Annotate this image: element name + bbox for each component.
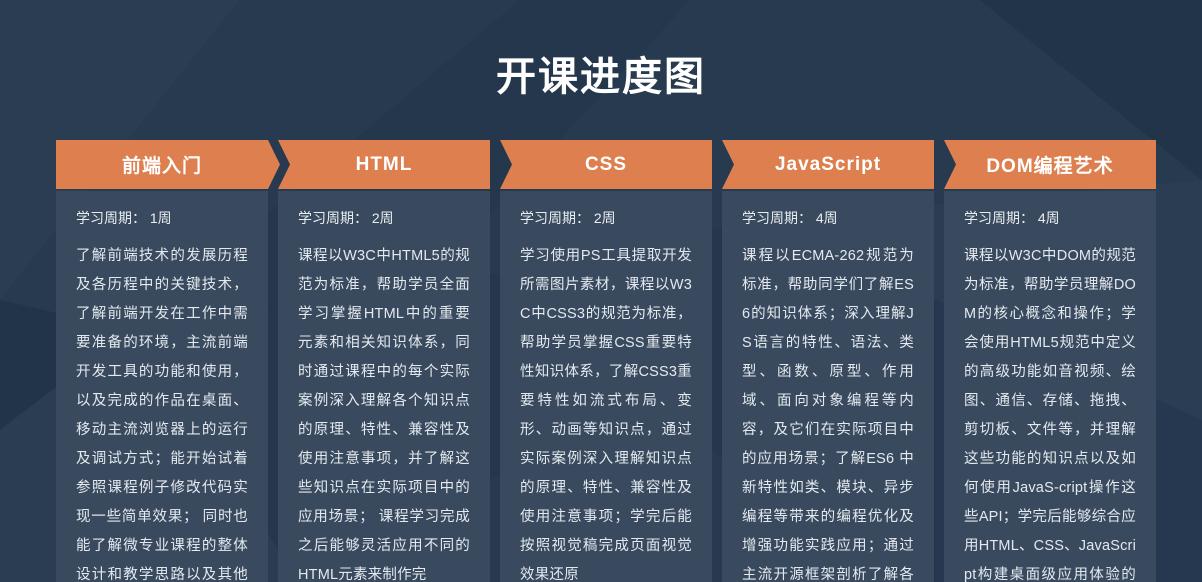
course-description: 了解前端技术的发展历程及各历程中的关键技术，了解前端开发在工作中需要准备的环境，… (76, 242, 248, 582)
course-description: 学习使用PS工具提取开发所需图片素材，课程以W3C中CSS3的规范为标准，帮助学… (520, 242, 692, 582)
course-title: 前端入门 (122, 151, 202, 178)
course-duration: 学习周期： 4周 (742, 209, 914, 227)
course-header-javascript[interactable]: JavaScript (722, 140, 934, 189)
course-description: 课程以W3C中DOM的规范为标准，帮助学员理解DOM的核心概念和操作；学会使用H… (964, 242, 1136, 582)
course-header-css[interactable]: CSS (500, 140, 712, 189)
course-columns-board: 前端入门 学习周期： 1周 了解前端技术的发展历程及各历程中的关键技术，了解前端… (56, 140, 1156, 582)
course-body-html: 学习周期： 2周 课程以W3C中HTML5的规范为标准，帮助学员全面学习掌握HT… (278, 191, 490, 582)
course-body-javascript: 学习周期： 4周 课程以ECMA-262规范为标准，帮助同学们了解ES6的知识体… (722, 191, 934, 582)
course-column-dom[interactable]: DOM编程艺术 学习周期： 4周 课程以W3C中DOM的规范为标准，帮助学员理解… (944, 140, 1156, 582)
course-header-front-end-intro[interactable]: 前端入门 (56, 140, 268, 189)
course-body-css: 学习周期： 2周 学习使用PS工具提取开发所需图片素材，课程以W3C中CSS3的… (500, 191, 712, 582)
course-column-html[interactable]: HTML 学习周期： 2周 课程以W3C中HTML5的规范为标准，帮助学员全面学… (278, 140, 490, 582)
course-header-dom[interactable]: DOM编程艺术 (944, 140, 1156, 189)
course-duration: 学习周期： 4周 (964, 209, 1136, 227)
course-column-css[interactable]: CSS 学习周期： 2周 学习使用PS工具提取开发所需图片素材，课程以W3C中C… (500, 140, 712, 582)
course-title: CSS (585, 154, 627, 176)
course-duration: 学习周期： 1周 (76, 209, 248, 227)
page-title: 开课进度图 (0, 52, 1202, 102)
course-body-dom: 学习周期： 4周 课程以W3C中DOM的规范为标准，帮助学员理解DOM的核心概念… (944, 191, 1156, 582)
course-body-front-end-intro: 学习周期： 1周 了解前端技术的发展历程及各历程中的关键技术，了解前端开发在工作… (56, 191, 268, 582)
course-title: HTML (356, 154, 413, 176)
progress-chart-page: 开课进度图 前端入门 学习周期： 1周 了解前端技术的发展历程及各历程中的关键技… (0, 0, 1202, 582)
course-header-html[interactable]: HTML (278, 140, 490, 189)
course-column-javascript[interactable]: JavaScript 学习周期： 4周 课程以ECMA-262规范为标准，帮助同… (722, 140, 934, 582)
course-description: 课程以ECMA-262规范为标准，帮助同学们了解ES6的知识体系；深入理解JS语… (742, 242, 914, 582)
course-column-front-end-intro[interactable]: 前端入门 学习周期： 1周 了解前端技术的发展历程及各历程中的关键技术，了解前端… (56, 140, 268, 582)
course-duration: 学习周期： 2周 (298, 209, 470, 227)
course-title: JavaScript (775, 154, 881, 176)
course-title: DOM编程艺术 (986, 151, 1113, 178)
course-description: 课程以W3C中HTML5的规范为标准，帮助学员全面学习掌握HTML中的重要元素和… (298, 242, 470, 582)
course-duration: 学习周期： 2周 (520, 209, 692, 227)
